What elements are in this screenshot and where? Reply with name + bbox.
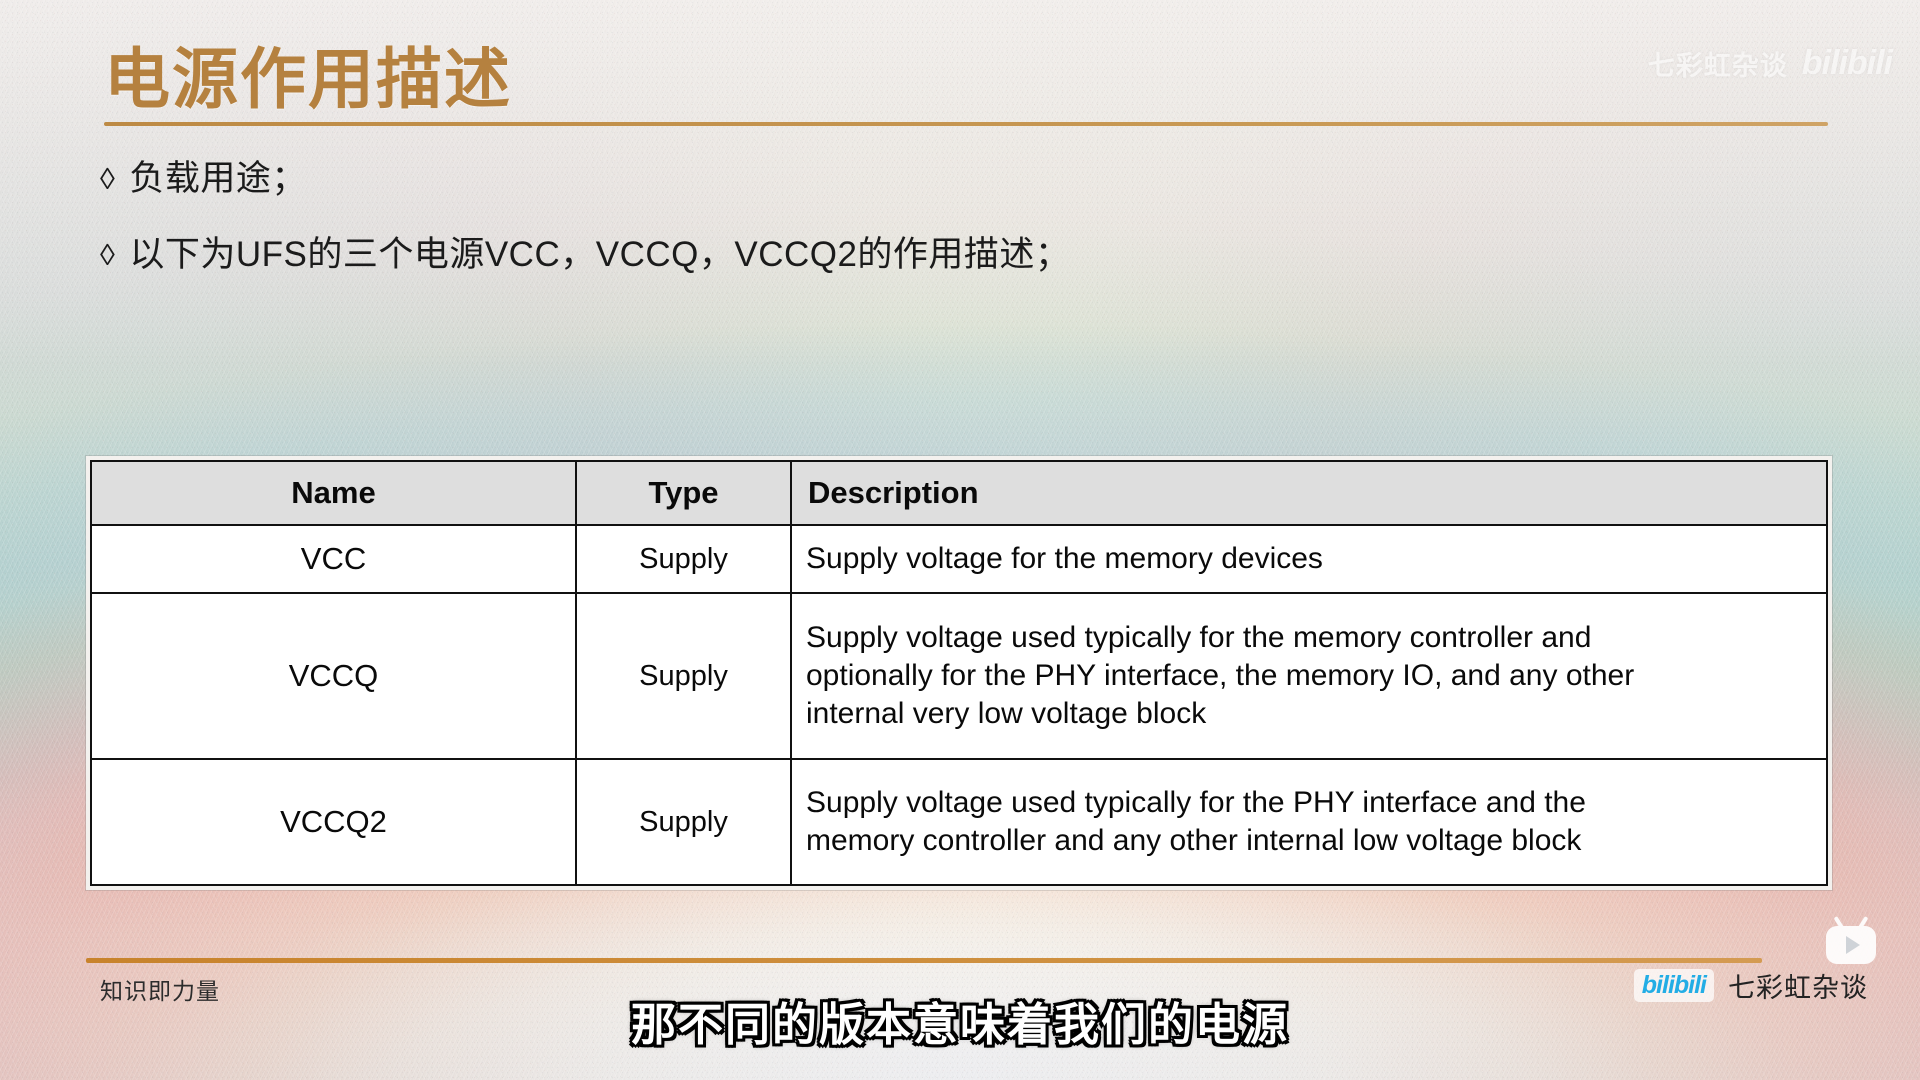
title-underline-rule — [104, 122, 1828, 126]
description-line: Supply voltage for the memory devices — [806, 540, 1812, 578]
watermark-channel-name: 七彩虹杂谈 — [1648, 44, 1788, 83]
presentation-slide: 电源作用描述 ◊负载用途； ◊以下为UFS的三个电源VCC，VCCQ，VCCQ2… — [0, 0, 1920, 1080]
description-line: Supply voltage used typically for the PH… — [806, 784, 1812, 822]
table-header-row: Name Type Description — [91, 461, 1827, 525]
table-header: Name Type Description — [91, 461, 1827, 525]
column-header-type: Type — [576, 461, 791, 525]
bullet-marker-icon: ◊ — [100, 239, 115, 273]
cell-description: Supply voltage used typically for the PH… — [791, 759, 1827, 885]
table-row: VCC Supply Supply voltage for the memory… — [91, 525, 1827, 593]
cell-description: Supply voltage used typically for the me… — [791, 593, 1827, 759]
cell-name: VCCQ — [91, 593, 576, 759]
cell-name: VCCQ2 — [91, 759, 576, 885]
cell-name: VCC — [91, 525, 576, 593]
bullet-text-1: 负载用途； — [129, 159, 307, 198]
bilibili-logo-icon: bilibili — [1802, 44, 1892, 83]
description-line: Supply voltage used typically for the me… — [806, 619, 1812, 657]
top-right-watermark: 七彩虹杂谈 bilibili — [1648, 44, 1892, 83]
table-row: VCCQ2 Supply Supply voltage used typical… — [91, 759, 1827, 885]
column-header-name: Name — [91, 461, 576, 525]
description-line: optionally for the PHY interface, the me… — [806, 657, 1812, 695]
slide-title: 电源作用描述 — [104, 26, 512, 122]
cell-type: Supply — [576, 593, 791, 759]
table-body: VCC Supply Supply voltage for the memory… — [91, 525, 1827, 885]
video-subtitle: 那不同的版本意味着我们的电源 — [0, 988, 1920, 1053]
bullet-marker-icon: ◊ — [100, 163, 115, 197]
description-line: memory controller and any other internal… — [806, 822, 1812, 860]
bullet-item-1: ◊负载用途； — [100, 150, 307, 201]
power-rails-table-container: Name Type Description VCC Supply Supply … — [86, 456, 1832, 890]
column-header-description: Description — [791, 461, 1827, 525]
bilibili-tv-play-icon — [1820, 912, 1882, 968]
cell-type: Supply — [576, 525, 791, 593]
description-line: internal very low voltage block — [806, 695, 1812, 733]
bullet-item-2: ◊以下为UFS的三个电源VCC，VCCQ，VCCQ2的作用描述； — [100, 226, 1070, 277]
cell-description: Supply voltage for the memory devices — [791, 525, 1827, 593]
cell-type: Supply — [576, 759, 791, 885]
bullet-text-2: 以下为UFS的三个电源VCC，VCCQ，VCCQ2的作用描述； — [129, 235, 1070, 274]
power-rails-table: Name Type Description VCC Supply Supply … — [90, 460, 1828, 886]
table-row: VCCQ Supply Supply voltage used typicall… — [91, 593, 1827, 759]
footer-rule — [86, 958, 1762, 963]
